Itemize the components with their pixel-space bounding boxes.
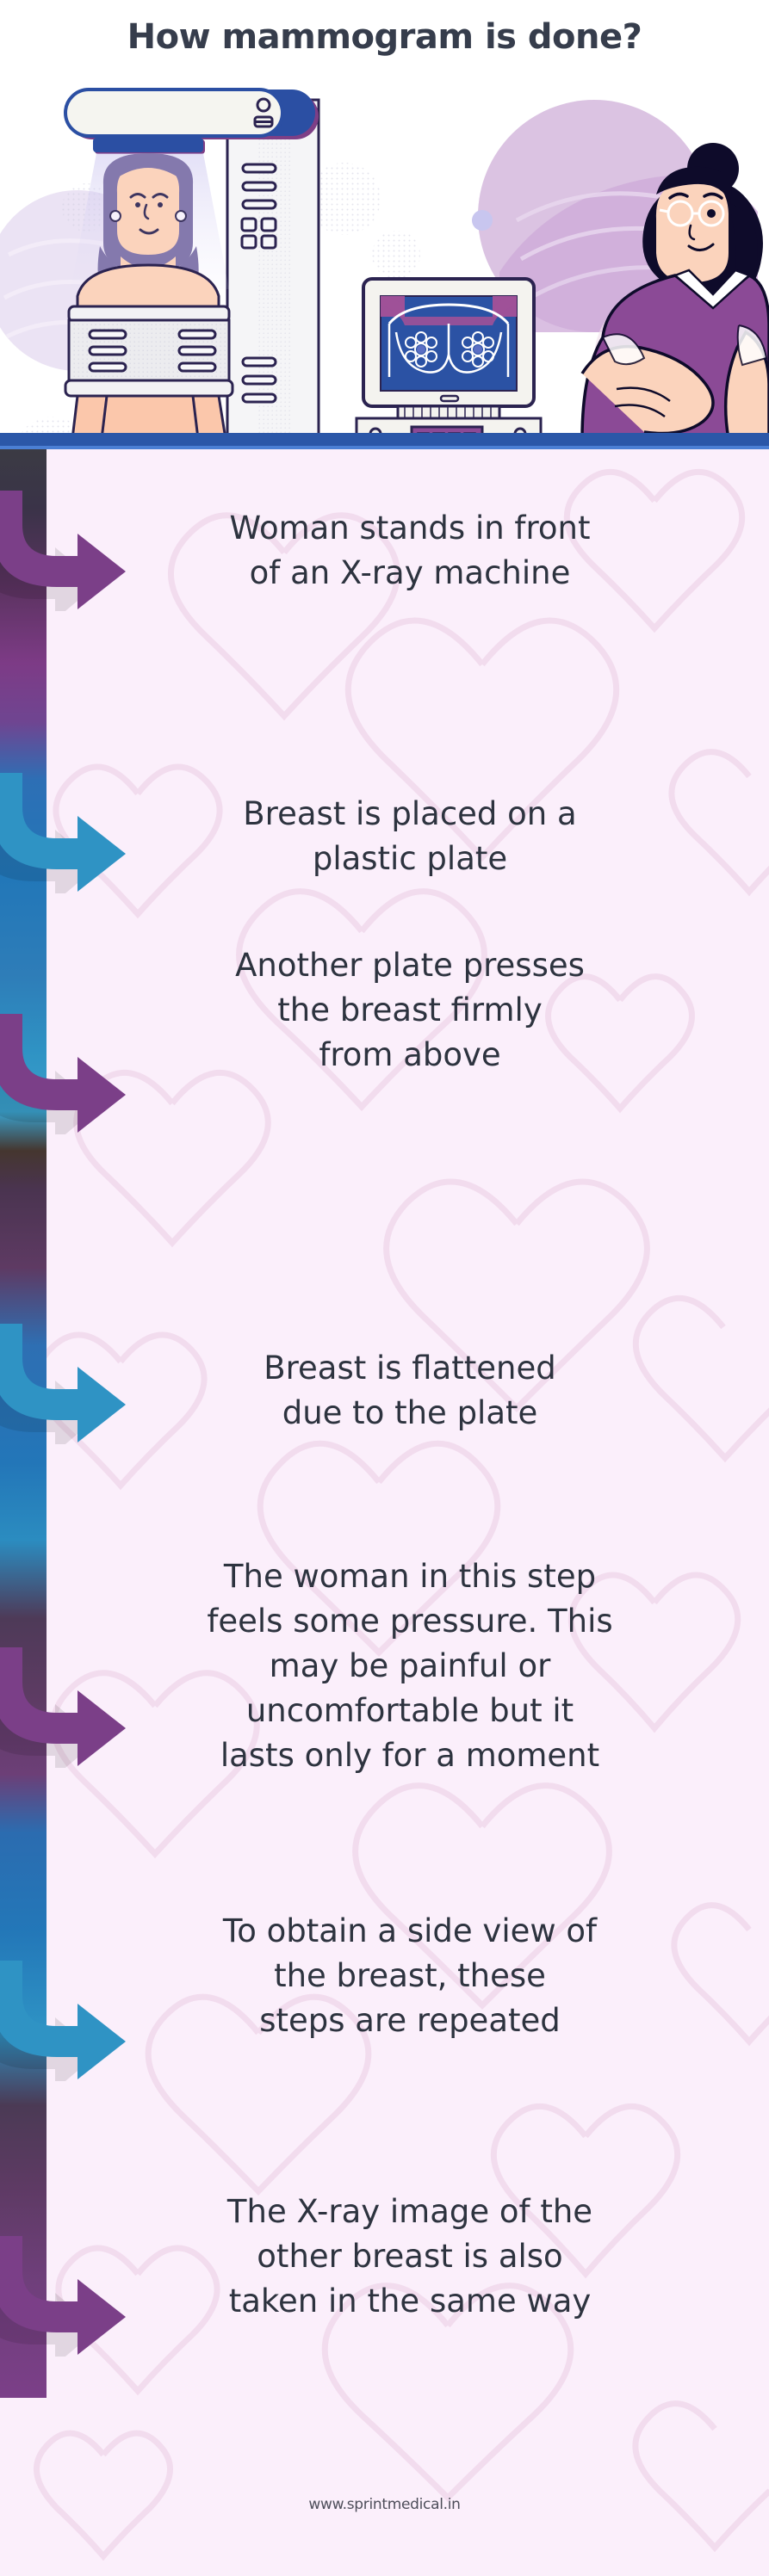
step-line: plastic plate	[83, 837, 737, 881]
step-line: taken in the same way	[83, 2279, 737, 2324]
section-divider-accent	[0, 446, 769, 449]
mammography-table	[65, 320, 233, 439]
step-text-6: To obtain a side view of the breast, the…	[83, 1909, 737, 2043]
steps-section: Woman stands in front of an X-ray machin…	[0, 449, 769, 2576]
step-text-1: Woman stands in front of an X-ray machin…	[83, 506, 737, 596]
xray-machine-column	[227, 100, 319, 439]
hero-illustration	[0, 74, 769, 439]
step-line: Breast is flattened	[83, 1346, 737, 1391]
step-line: the breast, these	[83, 1954, 737, 1998]
step-line: lasts only for a moment	[83, 1733, 737, 1778]
step-line: the breast firmly	[83, 988, 737, 1033]
step-line: of an X-ray machine	[83, 551, 737, 596]
step-text-7: The X-ray image of the other breast is a…	[83, 2190, 737, 2324]
step-line: Another plate presses	[83, 943, 737, 988]
step-text-5: The woman in this step feels some pressu…	[83, 1554, 737, 1778]
step-line: other breast is also	[83, 2234, 737, 2279]
step-line: Breast is placed on a	[83, 792, 737, 837]
step-line: To obtain a side view of	[83, 1909, 737, 1954]
step-line: uncomfortable but it	[83, 1689, 737, 1733]
step-line: The X-ray image of the	[83, 2190, 737, 2234]
infographic-root: How mammogram is done?	[0, 0, 769, 2576]
step-line: due to the plate	[83, 1391, 737, 1436]
step-line: The woman in this step	[83, 1554, 737, 1599]
step-line: feels some pressure. This	[83, 1599, 737, 1644]
title-bar: How mammogram is done?	[0, 0, 769, 74]
footer: www.sprintmedical.in	[0, 2496, 769, 2513]
step-text-4: Breast is flattened due to the plate	[83, 1346, 737, 1436]
monitor-workstation	[357, 279, 541, 439]
step-text-2: Breast is placed on a plastic plate	[83, 792, 737, 881]
step-line: steps are repeated	[83, 1998, 737, 2043]
step-line: may be painful or	[83, 1644, 737, 1689]
section-divider	[0, 433, 769, 446]
page-title: How mammogram is done?	[127, 17, 642, 57]
website-url[interactable]: www.sprintmedical.in	[308, 2496, 460, 2513]
step-text-3: Another plate presses the breast firmly …	[83, 943, 737, 1078]
step-line: Woman stands in front	[83, 506, 737, 551]
step-line: from above	[83, 1033, 737, 1078]
